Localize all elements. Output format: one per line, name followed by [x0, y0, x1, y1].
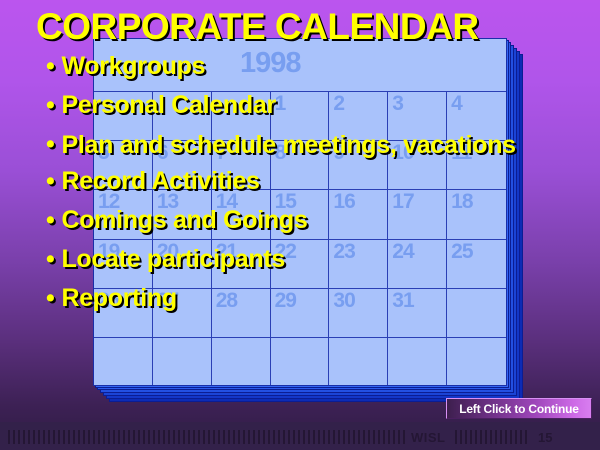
presentation-slide: 1998 12345678910111213141516171819202122…	[0, 0, 600, 450]
calendar-empty-cell	[94, 338, 153, 386]
page-number: 15	[538, 430, 552, 445]
list-item-label: Locate participants	[61, 247, 516, 272]
list-item-label: Record Activities	[61, 169, 516, 194]
bullet-point-icon: •	[46, 208, 54, 233]
calendar-empty-cell	[329, 338, 388, 386]
list-item-label: Personal Calendar	[61, 93, 516, 118]
tick-marks-left	[8, 430, 406, 444]
list-item-label: Reporting	[61, 286, 516, 311]
page-title: CORPORATE CALENDAR	[36, 6, 479, 48]
status-bar: WISL 15	[0, 422, 600, 450]
list-item: •Reporting	[46, 286, 516, 311]
calendar-empty-cell	[447, 338, 506, 386]
calendar-empty-cell	[153, 338, 212, 386]
calendar-empty-cell	[388, 338, 447, 386]
list-item-label: Plan and schedule meetings, vacations	[61, 132, 516, 159]
left-click-to-continue-button[interactable]: Left Click to Continue	[446, 398, 592, 419]
brand-label: WISL	[411, 430, 446, 445]
list-item: •Comings and Goings	[46, 208, 516, 233]
list-item: •Plan and schedule meetings, vacations	[46, 132, 516, 159]
tick-marks-right	[455, 430, 527, 444]
list-item-label: Workgroups	[61, 54, 516, 79]
bullet-point-icon: •	[46, 286, 54, 311]
list-item: •Personal Calendar	[46, 93, 516, 118]
list-item: •Locate participants	[46, 247, 516, 272]
bullet-list: •Workgroups•Personal Calendar•Plan and s…	[46, 54, 516, 325]
calendar-empty-cell	[271, 338, 330, 386]
bullet-point-icon: •	[46, 169, 54, 194]
bullet-point-icon: •	[46, 54, 54, 79]
list-item-label: Comings and Goings	[61, 208, 516, 233]
bullet-point-icon: •	[46, 132, 54, 157]
calendar-empty-cell	[212, 338, 271, 386]
bullet-point-icon: •	[46, 93, 54, 118]
list-item: •Workgroups	[46, 54, 516, 79]
bullet-point-icon: •	[46, 247, 54, 272]
list-item: •Record Activities	[46, 169, 516, 194]
